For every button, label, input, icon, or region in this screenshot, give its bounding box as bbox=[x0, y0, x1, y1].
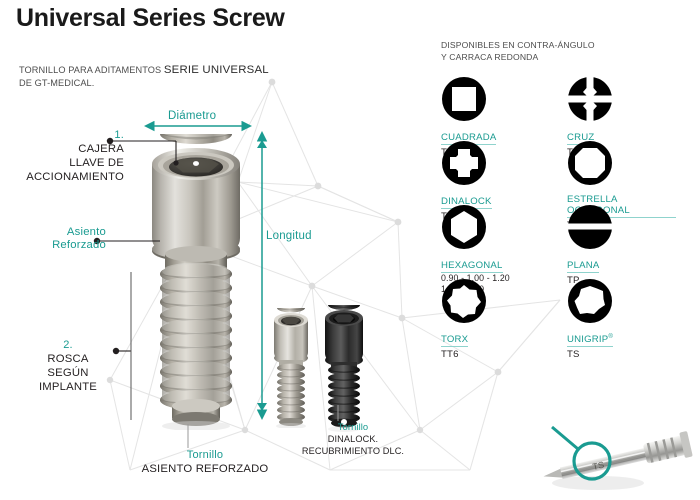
callout-asiento-reforzado: Asiento Reforzado bbox=[14, 226, 106, 252]
intro-line1-small: TORNILLO PARA ADITAMENTOS bbox=[19, 65, 161, 75]
caption-dinalock-screw: Tornillo DINALOCK. RECUBRIMIENTO DLC. bbox=[278, 421, 428, 457]
page-title: Universal Series Screw bbox=[16, 4, 285, 33]
right-heading-line1: DISPONIBLES EN CONTRA-ÁNGULO bbox=[441, 40, 595, 52]
caption-dinalock-line3: RECUBRIMIENTO DLC. bbox=[278, 445, 428, 457]
driver-name-hexagonal: HEXAGONAL bbox=[441, 260, 503, 273]
callout-2-line1: ROSCA bbox=[18, 352, 118, 366]
dinalock-socket-icon bbox=[441, 140, 487, 186]
callout-asiento-line1: Asiento bbox=[14, 226, 106, 239]
small-screw-silver-illustration bbox=[268, 308, 314, 428]
caption-main-line2: ASIENTO REFORZADO bbox=[110, 462, 300, 476]
intro-line1-big: SERIE UNIVERSAL bbox=[164, 64, 269, 76]
infographic-canvas: Universal Series Screw TORNILLO PARA ADI… bbox=[0, 0, 700, 500]
driver-socket-grid: CUADRADA TCU CRUZ TC D bbox=[441, 76, 693, 338]
driver-option-dinalock[interactable]: DINALOCK TA bbox=[441, 140, 550, 204]
driver-tool-marking: TS bbox=[592, 460, 605, 472]
unigrip-driver-tool-illustration: TS bbox=[540, 425, 698, 497]
right-panel-heading: DISPONIBLES EN CONTRA-ÁNGULO Y CARRACA R… bbox=[441, 40, 595, 63]
octagon-socket-icon bbox=[567, 140, 613, 186]
callout-1-number: 1. bbox=[6, 128, 124, 142]
main-screw-illustration bbox=[132, 134, 260, 430]
intro-line2: DE GT-MEDICAL. bbox=[19, 77, 269, 90]
right-heading-line2: Y CARRACA REDONDA bbox=[441, 52, 595, 64]
intro-text: TORNILLO PARA ADITAMENTOS SERIE UNIVERSA… bbox=[19, 64, 269, 89]
square-socket-icon bbox=[441, 76, 487, 122]
driver-option-hexagonal[interactable]: HEXAGONAL 0.90 - 1.00 - 1.20 1.25 - 1.70 bbox=[441, 204, 550, 278]
callout-2-line3: IMPLANTE bbox=[18, 380, 118, 394]
cross-socket-icon bbox=[567, 76, 613, 122]
driver-option-estrella-octogonal[interactable]: ESTRELLA OCTOGONAL TO bbox=[567, 140, 676, 204]
trademark-symbol: ® bbox=[608, 334, 613, 340]
callout-2-line2: SEGÚN bbox=[18, 366, 118, 380]
highlight-leader-line bbox=[552, 427, 578, 449]
driver-option-cuadrada[interactable]: CUADRADA TCU bbox=[441, 76, 550, 140]
callout-rosca: 2. ROSCA SEGÚN IMPLANTE bbox=[18, 338, 118, 394]
driver-name-torx: TORX bbox=[441, 334, 468, 347]
driver-code-unigrip: TS bbox=[567, 349, 676, 360]
small-screw-dinalock-dlc-illustration bbox=[318, 305, 370, 433]
caption-main-line1: Tornillo bbox=[110, 448, 300, 462]
diameter-dimension-label: Diámetro bbox=[168, 110, 216, 122]
callout-1-line1: CAJERA bbox=[6, 142, 124, 156]
caption-dinalock-line1: Tornillo bbox=[278, 421, 428, 433]
driver-option-torx[interactable]: TORX TT6 bbox=[441, 278, 550, 338]
driver-name-plana: PLANA bbox=[567, 260, 599, 273]
slot-socket-icon bbox=[567, 204, 613, 250]
driver-option-unigrip[interactable]: UNIGRIP® TS bbox=[567, 278, 676, 338]
hexagon-socket-icon bbox=[441, 204, 487, 250]
driver-code-torx: TT6 bbox=[441, 349, 550, 360]
callout-cajera: 1. CAJERA LLAVE DE ACCIONAMIENTO bbox=[6, 128, 124, 184]
callout-1-line2: LLAVE DE bbox=[6, 156, 124, 170]
callout-2-number: 2. bbox=[18, 338, 118, 352]
driver-name-unigrip: UNIGRIP® bbox=[567, 332, 613, 347]
callout-1-line3: ACCIONAMIENTO bbox=[6, 170, 124, 184]
length-dimension-label: Longitud bbox=[266, 230, 312, 242]
caption-dinalock-line2: DINALOCK. bbox=[278, 433, 428, 445]
driver-option-plana[interactable]: PLANA TP bbox=[567, 204, 676, 278]
callout-asiento-line2: Reforzado bbox=[14, 239, 106, 252]
driver-option-cruz[interactable]: CRUZ TC bbox=[567, 76, 676, 140]
unigrip-socket-icon bbox=[567, 278, 613, 324]
driver-name-unigrip-text: UNIGRIP bbox=[567, 334, 608, 345]
torx-socket-icon bbox=[441, 278, 487, 324]
caption-main-screw: Tornillo ASIENTO REFORZADO bbox=[110, 448, 300, 476]
